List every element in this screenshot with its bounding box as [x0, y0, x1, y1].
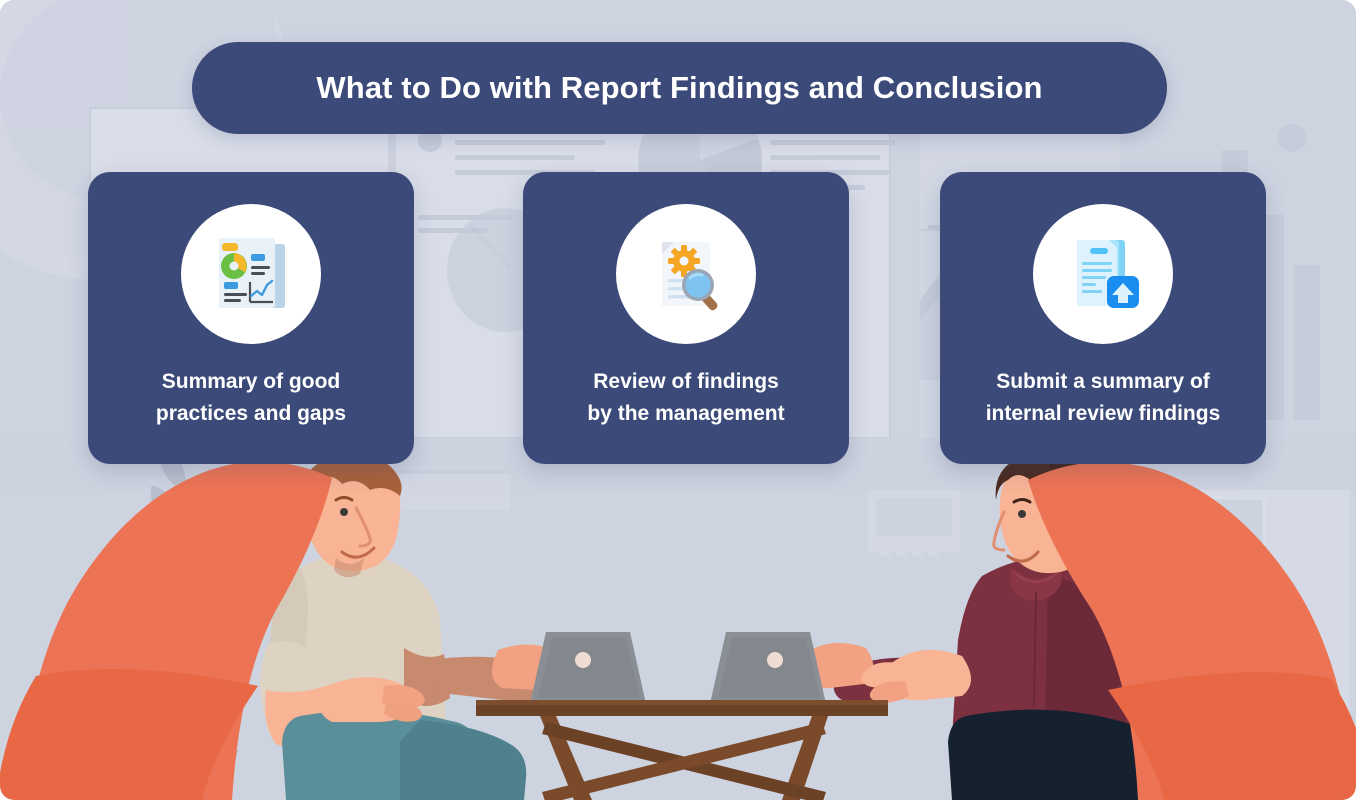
laptop-right	[698, 632, 838, 710]
document-gear-magnifier-icon	[616, 204, 756, 344]
card-review-by-management[interactable]: Review of findings by the management	[523, 172, 849, 464]
document-upload-icon	[1033, 204, 1173, 344]
hand-right-person-near	[861, 650, 971, 703]
laptop-left	[518, 632, 658, 710]
card-label: Summary of good practices and gaps	[144, 366, 358, 430]
report-chart-document-icon	[181, 204, 321, 344]
card-label: Review of findings by the management	[575, 366, 796, 430]
card-summary-good-practices[interactable]: Summary of good practices and gaps	[88, 172, 414, 464]
card-label: Submit a summary of internal review find…	[974, 366, 1233, 430]
title-banner: What to Do with Report Findings and Conc…	[192, 42, 1167, 134]
desk	[476, 700, 888, 800]
infographic-canvas: What to Do with Report Findings and Conc…	[0, 0, 1356, 800]
page-title: What to Do with Report Findings and Conc…	[316, 70, 1042, 106]
card-submit-internal-review[interactable]: Submit a summary of internal review find…	[940, 172, 1266, 464]
